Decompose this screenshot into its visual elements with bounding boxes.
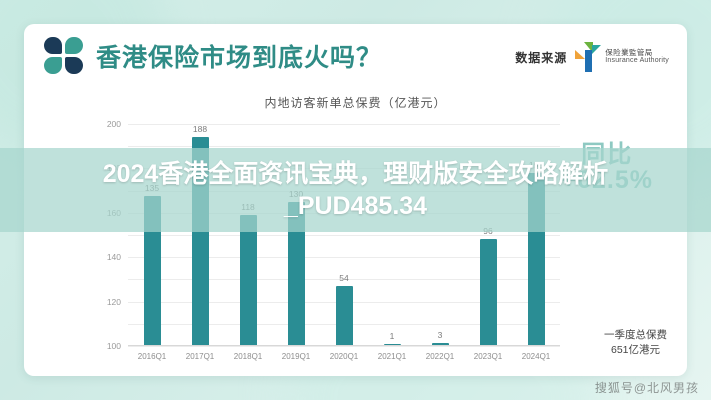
y-axis-tick-label: 120 [107,297,121,307]
x-axis-tick-label: 2021Q1 [378,352,406,361]
x-axis-tick-label: 2024Q1 [522,352,550,361]
logo-leaf-bottom-right [65,57,83,74]
bar-value-label: 54 [339,273,348,283]
y-axis-tick-label: 140 [107,252,121,262]
four-leaf-logo-icon [44,37,84,75]
x-axis-tick-label: 2017Q1 [186,352,214,361]
x-axis-tick-label: 2018Q1 [234,352,262,361]
chart-bar [336,286,353,346]
gridline: 0 [128,346,560,347]
chart-bar [480,239,497,346]
y-axis-tick-label: 100 [107,341,121,351]
screenshot-root: 香港保险市场到底火吗？ 数据来源 保险業監管局 Insurance Author… [0,0,711,400]
x-axis-tick-label: 2019Q1 [282,352,310,361]
q1-total-value: 651亿港元 [604,343,667,358]
chart-x-axis [128,345,560,346]
watermark: 搜狐号@北风男孩 [595,379,699,396]
caption-overlay-text: 2024香港全面资讯宝典，理财版安全攻略解析 _PUD485.34 [0,158,711,222]
data-source-label: 数据来源 [515,49,567,66]
org-name-cn: 保险業監管局 [605,49,669,57]
caption-line-2: _PUD485.34 [284,192,427,220]
q1-total-premium-annotation: 一季度总保费 651亿港元 [604,328,667,358]
org-name-en: Insurance Authority [605,57,669,64]
chart-bar [240,215,257,346]
logo-leaf-top-left [44,37,62,54]
bar-value-label: 3 [438,330,443,340]
logo-leaf-teal [592,45,601,54]
x-axis-tick-label: 2020Q1 [330,352,358,361]
logo-leaf-top-right [65,37,83,54]
x-axis-tick-label: 2023Q1 [474,352,502,361]
page-title: 香港保险市场到底火吗？ [96,38,382,74]
chart-title: 内地访客新单总保费（亿港元） [24,94,687,111]
insurance-authority-mark-icon [575,42,601,72]
q1-total-label: 一季度总保费 [604,328,667,343]
data-source-block: 数据来源 保险業監管局 Insurance Authority [515,42,669,72]
y-axis-tick-label: 200 [107,119,121,129]
x-axis-tick-label: 2016Q1 [138,352,166,361]
logo-leaf-bottom-left [44,57,62,74]
logo-stem [585,50,592,72]
insurance-authority-logo-icon: 保险業監管局 Insurance Authority [575,42,669,72]
x-axis-tick-label: 2022Q1 [426,352,454,361]
caption-line-1: 2024香港全面资讯宝典，理财版安全攻略解析 [103,160,609,188]
bar-value-label: 188 [193,124,207,134]
card-header: 香港保险市场到底火吗？ 数据来源 保险業監管局 Insurance Author… [24,24,687,86]
insurance-authority-wordmark: 保险業監管局 Insurance Authority [605,49,669,64]
bar-value-label: 1 [390,331,395,341]
